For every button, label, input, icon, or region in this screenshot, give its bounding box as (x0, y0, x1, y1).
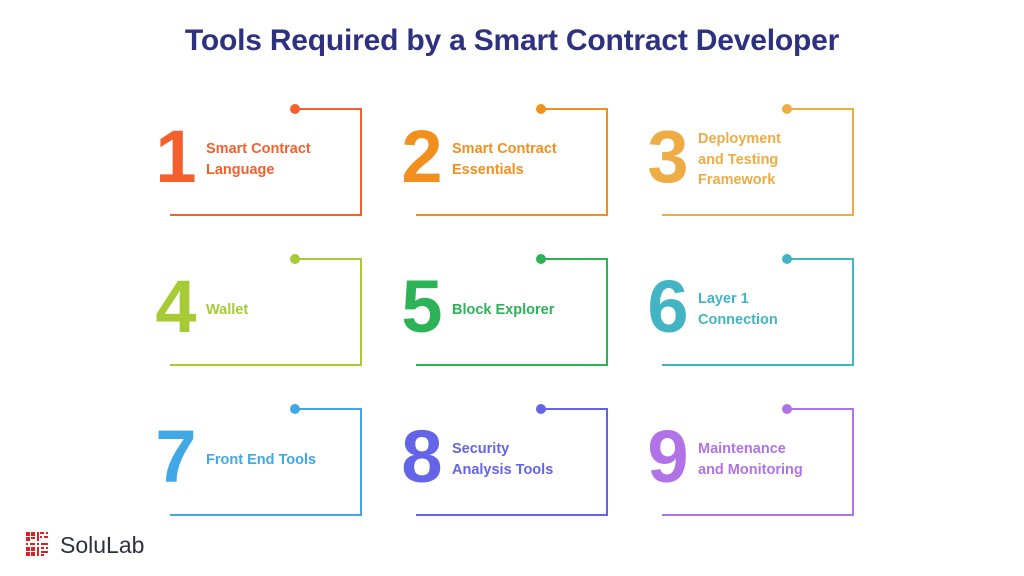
card-number: 9 (638, 420, 696, 494)
card-label: Deploymentand TestingFramework (698, 108, 838, 212)
tool-card-9[interactable]: 9Maintenanceand Monitoring (638, 408, 884, 558)
card-number: 7 (146, 420, 204, 494)
tool-card-1[interactable]: 1Smart ContractLanguage (146, 108, 392, 258)
card-label: Block Explorer (452, 258, 592, 362)
card-label-line1: Layer 1 (698, 289, 838, 310)
card-number: 5 (392, 270, 450, 344)
tool-card-3[interactable]: 3Deploymentand TestingFramework (638, 108, 884, 258)
card-number: 3 (638, 120, 696, 194)
card-label-line2: Analysis Tools (452, 460, 592, 481)
card-number: 4 (146, 270, 204, 344)
card-number: 6 (638, 270, 696, 344)
tools-grid: 1Smart ContractLanguage2Smart ContractEs… (146, 108, 886, 518)
card-number: 2 (392, 120, 450, 194)
page-title: Tools Required by a Smart Contract Devel… (0, 22, 1024, 60)
card-label-line1: Block Explorer (452, 300, 592, 321)
tool-card-7[interactable]: 7Front End Tools (146, 408, 392, 558)
card-label-line1: Smart Contract (452, 139, 592, 160)
card-number: 1 (146, 120, 204, 194)
tool-card-4[interactable]: 4Wallet (146, 258, 392, 408)
card-label-line1: Front End Tools (206, 450, 346, 471)
card-label-line2: Connection (698, 310, 838, 331)
card-label: Smart ContractLanguage (206, 108, 346, 212)
solulab-logo-text: SoluLab (60, 534, 144, 557)
tool-card-2[interactable]: 2Smart ContractEssentials (392, 108, 638, 258)
card-label: SecurityAnalysis Tools (452, 408, 592, 512)
tool-card-6[interactable]: 6Layer 1Connection (638, 258, 884, 408)
card-label-line3: Framework (698, 170, 838, 191)
card-label: Wallet (206, 258, 346, 362)
card-label: Smart ContractEssentials (452, 108, 592, 212)
card-number: 8 (392, 420, 450, 494)
tool-card-8[interactable]: 8SecurityAnalysis Tools (392, 408, 638, 558)
card-label: Front End Tools (206, 408, 346, 512)
tool-card-5[interactable]: 5Block Explorer (392, 258, 638, 408)
card-label: Layer 1Connection (698, 258, 838, 362)
card-label-line1: Maintenance (698, 439, 838, 460)
card-label: Maintenanceand Monitoring (698, 408, 838, 512)
card-label-line1: Security (452, 439, 592, 460)
card-label-line1: Wallet (206, 300, 346, 321)
card-label-line2: Essentials (452, 160, 592, 181)
solulab-logo-mark (26, 532, 52, 558)
solulab-logo: SoluLab (26, 532, 144, 558)
card-label-line2: and Testing (698, 150, 838, 171)
card-label-line1: Deployment (698, 129, 838, 150)
card-label-line2: Language (206, 160, 346, 181)
card-label-line1: Smart Contract (206, 139, 346, 160)
card-label-line2: and Monitoring (698, 460, 838, 481)
